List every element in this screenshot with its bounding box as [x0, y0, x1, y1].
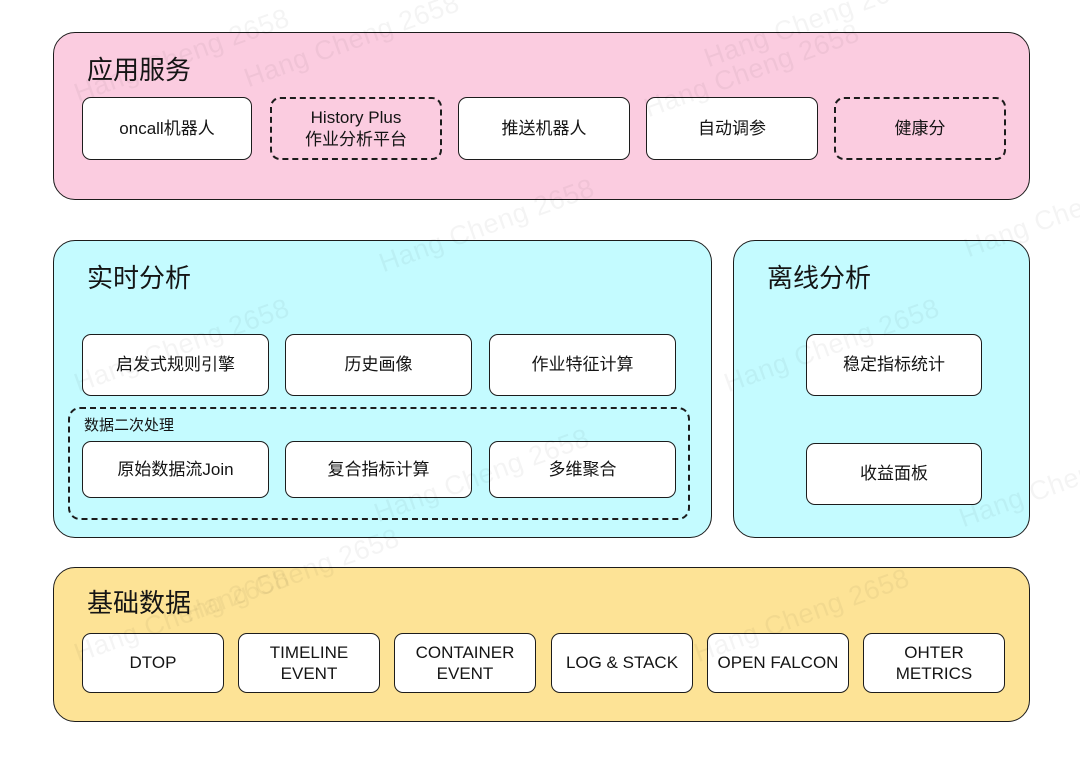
node-label: 健康分: [891, 118, 950, 139]
node-label: TIMELINE EVENT: [266, 642, 352, 685]
node-label: oncall机器人: [115, 118, 218, 139]
node-label: 作业特征计算: [528, 354, 638, 375]
node-heuristic-rule-engine[interactable]: 启发式规则引擎: [82, 334, 269, 396]
layer-title-realtime-analysis: 实时分析: [87, 265, 191, 291]
layer-title-base-data: 基础数据: [87, 590, 191, 616]
node-label: 推送机器人: [498, 118, 591, 139]
node-auto-tuning[interactable]: 自动调参: [646, 97, 818, 160]
node-multidimensional-aggregation[interactable]: 多维聚合: [489, 441, 676, 498]
node-label: OHTER METRICS: [892, 642, 977, 685]
node-label: 原始数据流Join: [113, 459, 237, 480]
layer-title-offline-analysis: 离线分析: [767, 265, 871, 291]
node-stable-metrics-statistics[interactable]: 稳定指标统计: [806, 334, 982, 396]
node-label: OPEN FALCON: [714, 652, 843, 673]
architecture-diagram-canvas: Hang Cheng 2658 Hang Cheng 2658 Hang Che…: [0, 0, 1080, 766]
node-push-robot[interactable]: 推送机器人: [458, 97, 630, 160]
node-history-plus-platform[interactable]: History Plus 作业分析平台: [270, 97, 442, 160]
node-log-and-stack[interactable]: LOG & STACK: [551, 633, 693, 693]
node-label: 收益面板: [856, 463, 932, 484]
node-timeline-event[interactable]: TIMELINE EVENT: [238, 633, 380, 693]
node-label: 复合指标计算: [324, 459, 434, 480]
node-label: DTOP: [126, 652, 181, 673]
node-label: History Plus 作业分析平台: [301, 107, 411, 150]
node-label: 稳定指标统计: [839, 354, 949, 375]
node-health-score[interactable]: 健康分: [834, 97, 1006, 160]
node-label: 多维聚合: [545, 459, 621, 480]
node-job-feature-computation[interactable]: 作业特征计算: [489, 334, 676, 396]
node-dtop[interactable]: DTOP: [82, 633, 224, 693]
subgroup-title-secondary-data-processing: 数据二次处理: [84, 418, 174, 433]
node-label: CONTAINER EVENT: [412, 642, 519, 685]
layer-title-application-services: 应用服务: [87, 57, 191, 83]
node-label: 自动调参: [694, 118, 770, 139]
node-container-event[interactable]: CONTAINER EVENT: [394, 633, 536, 693]
node-label: 历史画像: [341, 354, 417, 375]
node-raw-stream-join[interactable]: 原始数据流Join: [82, 441, 269, 498]
node-oncall-robot[interactable]: oncall机器人: [82, 97, 252, 160]
node-label: LOG & STACK: [562, 652, 682, 673]
node-composite-metric-computation[interactable]: 复合指标计算: [285, 441, 472, 498]
node-other-metrics[interactable]: OHTER METRICS: [863, 633, 1005, 693]
node-benefit-dashboard[interactable]: 收益面板: [806, 443, 982, 505]
node-label: 启发式规则引擎: [112, 354, 239, 375]
node-open-falcon[interactable]: OPEN FALCON: [707, 633, 849, 693]
node-history-profile[interactable]: 历史画像: [285, 334, 472, 396]
